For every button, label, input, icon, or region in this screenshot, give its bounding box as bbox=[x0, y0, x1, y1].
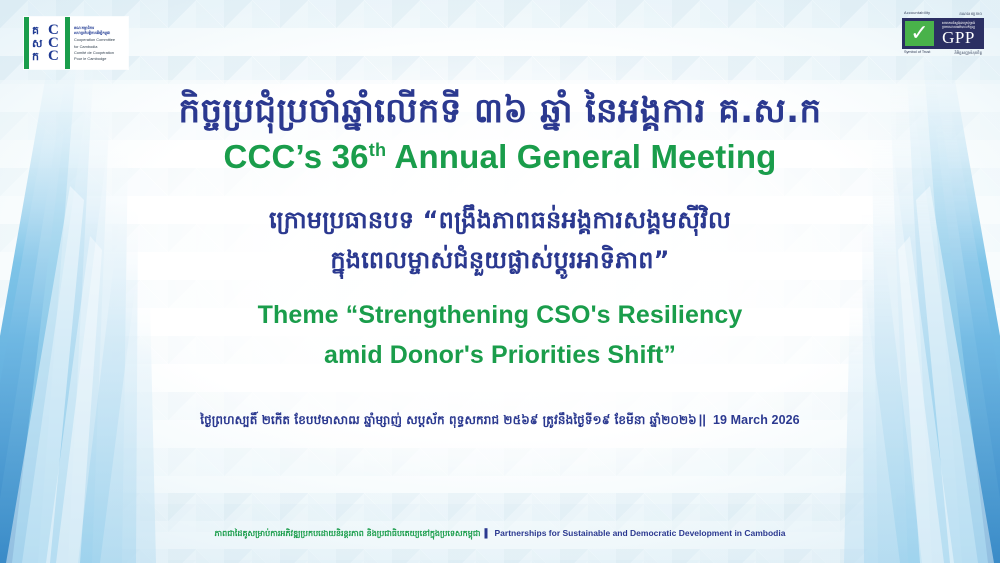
theme-khmer-line1: ក្រោមប្រធានបទ “ពង្រឹងភាពធន់អង្គការសង្គមស… bbox=[0, 201, 1000, 241]
event-date-english: 19 March 2026 bbox=[708, 413, 800, 427]
footer-tagline-english: Partnerships for Sustainable and Democra… bbox=[494, 528, 785, 538]
page-title-khmer: កិច្ចប្រជុំប្រចាំឆ្នាំលើកទី ៣៦ ឆ្នាំ នៃអ… bbox=[0, 92, 1000, 131]
main-content: កិច្ចប្រជុំប្រចាំឆ្នាំលើកទី ៣៦ ឆ្នាំ នៃអ… bbox=[0, 0, 1000, 430]
event-date: ថ្ងៃព្រហស្បតិ៍ ២កើត ខែបឋមាសាឍ ឆ្នាំម្សាញ… bbox=[0, 412, 1000, 430]
event-date-khmer: ថ្ងៃព្រហស្បតិ៍ ២កើត ខែបឋមាសាឍ ឆ្នាំម្សាញ… bbox=[200, 413, 696, 427]
theme-english: Theme “Strengthening CSO's Resiliency am… bbox=[0, 295, 1000, 376]
page-title-english-prefix: CCC’s 36 bbox=[223, 138, 368, 175]
page-title-english-suffix: Annual General Meeting bbox=[386, 138, 776, 175]
presentation-backdrop: គ C ស C ក C គណៈកម្មាធិការ សហប្រតិបត្តិកា… bbox=[0, 0, 1000, 563]
theme-khmer: ក្រោមប្រធានបទ “ពង្រឹងភាពធន់អង្គការសង្គមស… bbox=[0, 201, 1000, 280]
event-date-separator: || bbox=[697, 413, 708, 427]
theme-english-line2: amid Donor's Priorities Shift” bbox=[0, 335, 1000, 376]
page-title-ordinal-suffix: th bbox=[369, 140, 387, 160]
theme-english-line1: Theme “Strengthening CSO's Resiliency bbox=[0, 295, 1000, 336]
theme-khmer-line2: ក្នុងពេលម្ចាស់ជំនួយផ្លាស់ប្តូរអាទិភាព” bbox=[0, 241, 1000, 281]
page-title-english: CCC’s 36th Annual General Meeting bbox=[0, 139, 1000, 175]
footer-separator-icon: ▌ bbox=[480, 528, 494, 538]
footer-tagline: ភាពជាដៃគូសម្រាប់ការអភិវឌ្ឍប្រកបដោយនិរន្ត… bbox=[0, 528, 1000, 540]
footer-tagline-khmer: ភាពជាដៃគូសម្រាប់ការអភិវឌ្ឍប្រកបដោយនិរន្ត… bbox=[215, 529, 481, 538]
